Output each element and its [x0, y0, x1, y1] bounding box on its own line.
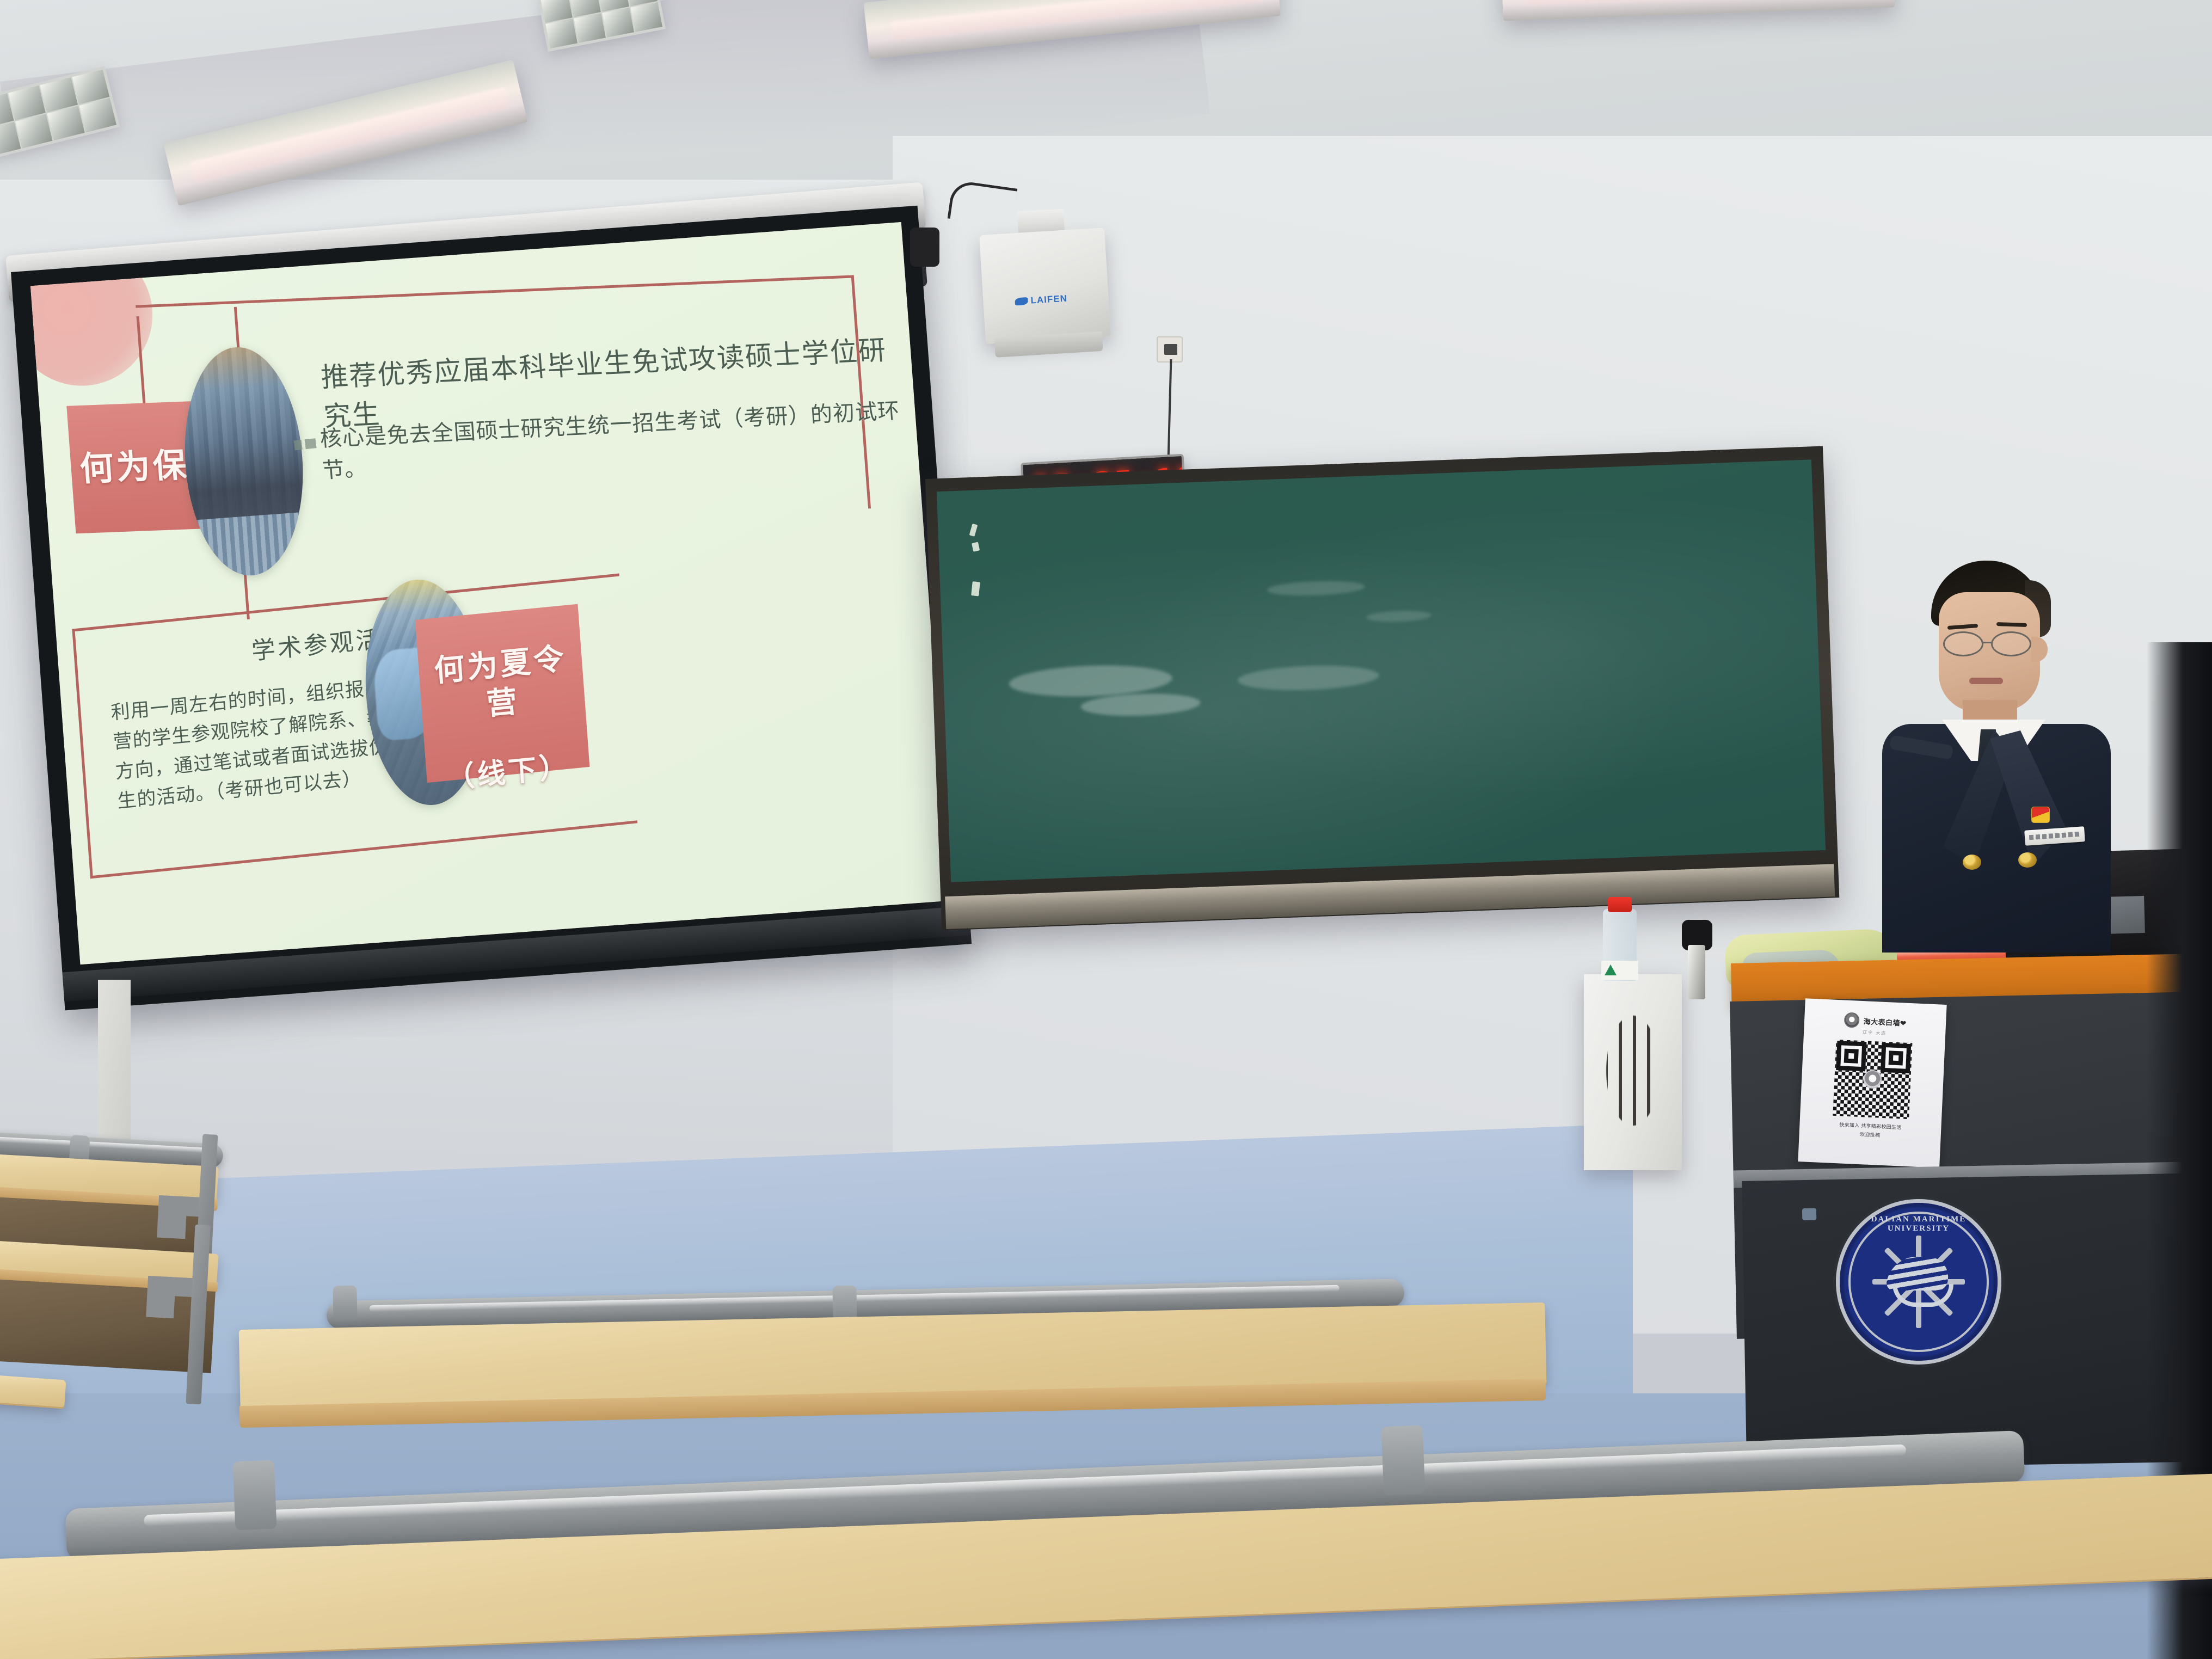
- slide-tag-summer-camp: 何为夏令营 （线下）: [415, 604, 590, 783]
- slide-tag-summer-camp-label-1: 何为夏令营: [415, 604, 586, 730]
- chalk-mark: [971, 581, 980, 596]
- bench-surface: [0, 1374, 66, 1407]
- qr-code-poster[interactable]: 海大表白墙❤ 辽宁 大连 快来加入 共享精彩校园生活 欢迎投稿: [1798, 998, 1946, 1168]
- wall-ventilation-unit[interactable]: LAIFEN: [979, 228, 1111, 344]
- chalk-smudge: [1237, 663, 1379, 692]
- university-logo-emblem-icon: [1888, 1257, 1949, 1307]
- projector-mount-box: [910, 228, 939, 267]
- wall-fan-brand-label: LAIFEN: [1015, 293, 1067, 308]
- water-bottle-label: [1601, 961, 1638, 980]
- qr-account-name: 海大表白墙❤: [1863, 1016, 1907, 1028]
- wall-speaker: [1584, 974, 1682, 1170]
- projection-screen-surface: 何为保研 推荐优秀应届本科毕业生免试攻读硕士学位研究生 核心是免去全国硕士研究生…: [30, 222, 951, 964]
- chalk-mark: [972, 542, 980, 552]
- podium-screw-icon: [1802, 1208, 1816, 1220]
- university-logo-text: DALIAN MARITIME UNIVERSITY: [1840, 1215, 1998, 1233]
- classroom-scene: 何为保研 推荐优秀应届本科毕业生免试攻读硕士学位研究生 核心是免去全国硕士研究生…: [0, 0, 2212, 1659]
- presentation-slide: 何为保研 推荐优秀应届本科毕业生免试攻读硕士学位研究生 核心是免去全国硕士研究生…: [30, 222, 951, 964]
- wall-power-socket[interactable]: [1157, 336, 1183, 362]
- microphone-body[interactable]: [1688, 945, 1705, 999]
- uniform-button: [2018, 852, 2037, 868]
- uniform-button: [1963, 855, 1981, 870]
- water-bottle-cap[interactable]: [1608, 897, 1632, 912]
- chalk-smudge: [1366, 610, 1432, 623]
- speaker-grille-icon: [1597, 1000, 1669, 1141]
- desk-row-foreground: [0, 1470, 2212, 1659]
- account-avatar-icon: [1844, 1012, 1859, 1028]
- chalk-smudge: [1267, 580, 1365, 598]
- qr-center-logo-icon: [1863, 1070, 1883, 1089]
- blackboard-frame: [925, 446, 1839, 931]
- desk-rail-clip: [1381, 1425, 1425, 1496]
- presenter-glasses-icon: [1934, 631, 2049, 658]
- chalk-mark: [969, 524, 978, 537]
- desk-rail-clip: [832, 1286, 857, 1322]
- qr-code-icon[interactable]: [1833, 1040, 1912, 1119]
- projection-screen[interactable]: 何为保研 推荐优秀应届本科毕业生免试攻读硕士学位研究生 核心是免去全国硕士研究生…: [11, 206, 972, 1011]
- presenter-flag-badge-icon: [2031, 807, 2050, 823]
- blackboard-surface[interactable]: [937, 459, 1826, 882]
- desk-rail-clip: [333, 1286, 357, 1322]
- bench-seat-left: [0, 1377, 103, 1475]
- presenter: [1861, 561, 2117, 953]
- university-logo: DALIAN MARITIME UNIVERSITY: [1840, 1203, 1998, 1361]
- presenter-mouth: [1969, 678, 2003, 684]
- desk-rail-clip: [233, 1460, 277, 1531]
